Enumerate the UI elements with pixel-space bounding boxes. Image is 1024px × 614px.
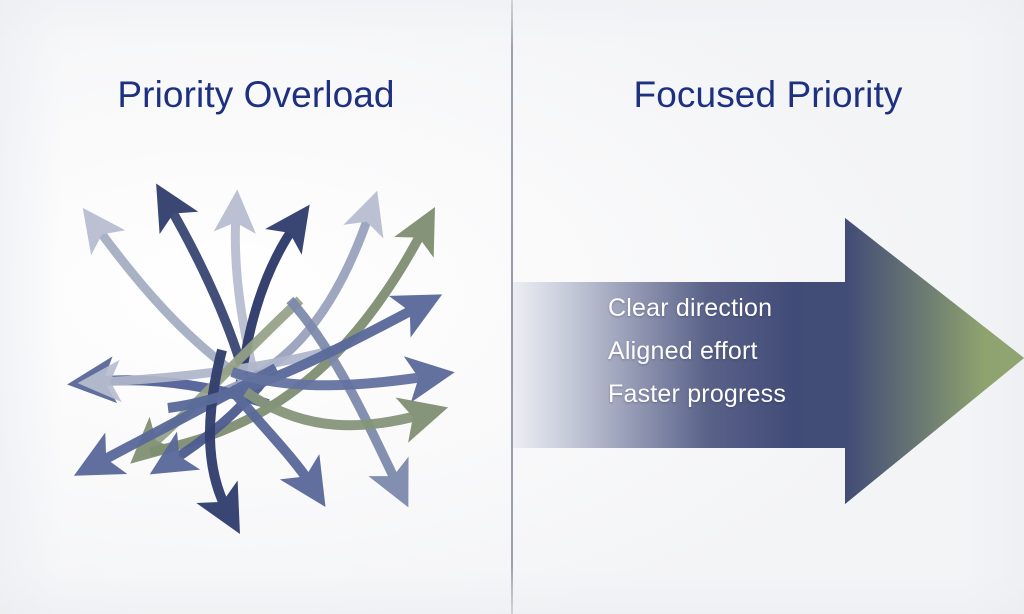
benefit-item-3: Faster progress <box>608 382 786 407</box>
benefit-item-2: Aligned effort <box>608 339 786 364</box>
benefit-item-1: Clear direction <box>608 296 786 321</box>
chaos-arrows-graphic <box>0 0 512 614</box>
slide-canvas: Priority Overload <box>0 0 1024 614</box>
panel-divider <box>511 0 513 614</box>
chaos-arrow-right-lower-sage <box>246 392 424 425</box>
focus-benefits-list: Clear direction Aligned effort Faster pr… <box>608 296 786 407</box>
focus-arrow-head <box>845 218 1024 504</box>
page-title-right: Focused Priority <box>512 74 1024 116</box>
panel-priority-overload: Priority Overload <box>0 0 512 614</box>
